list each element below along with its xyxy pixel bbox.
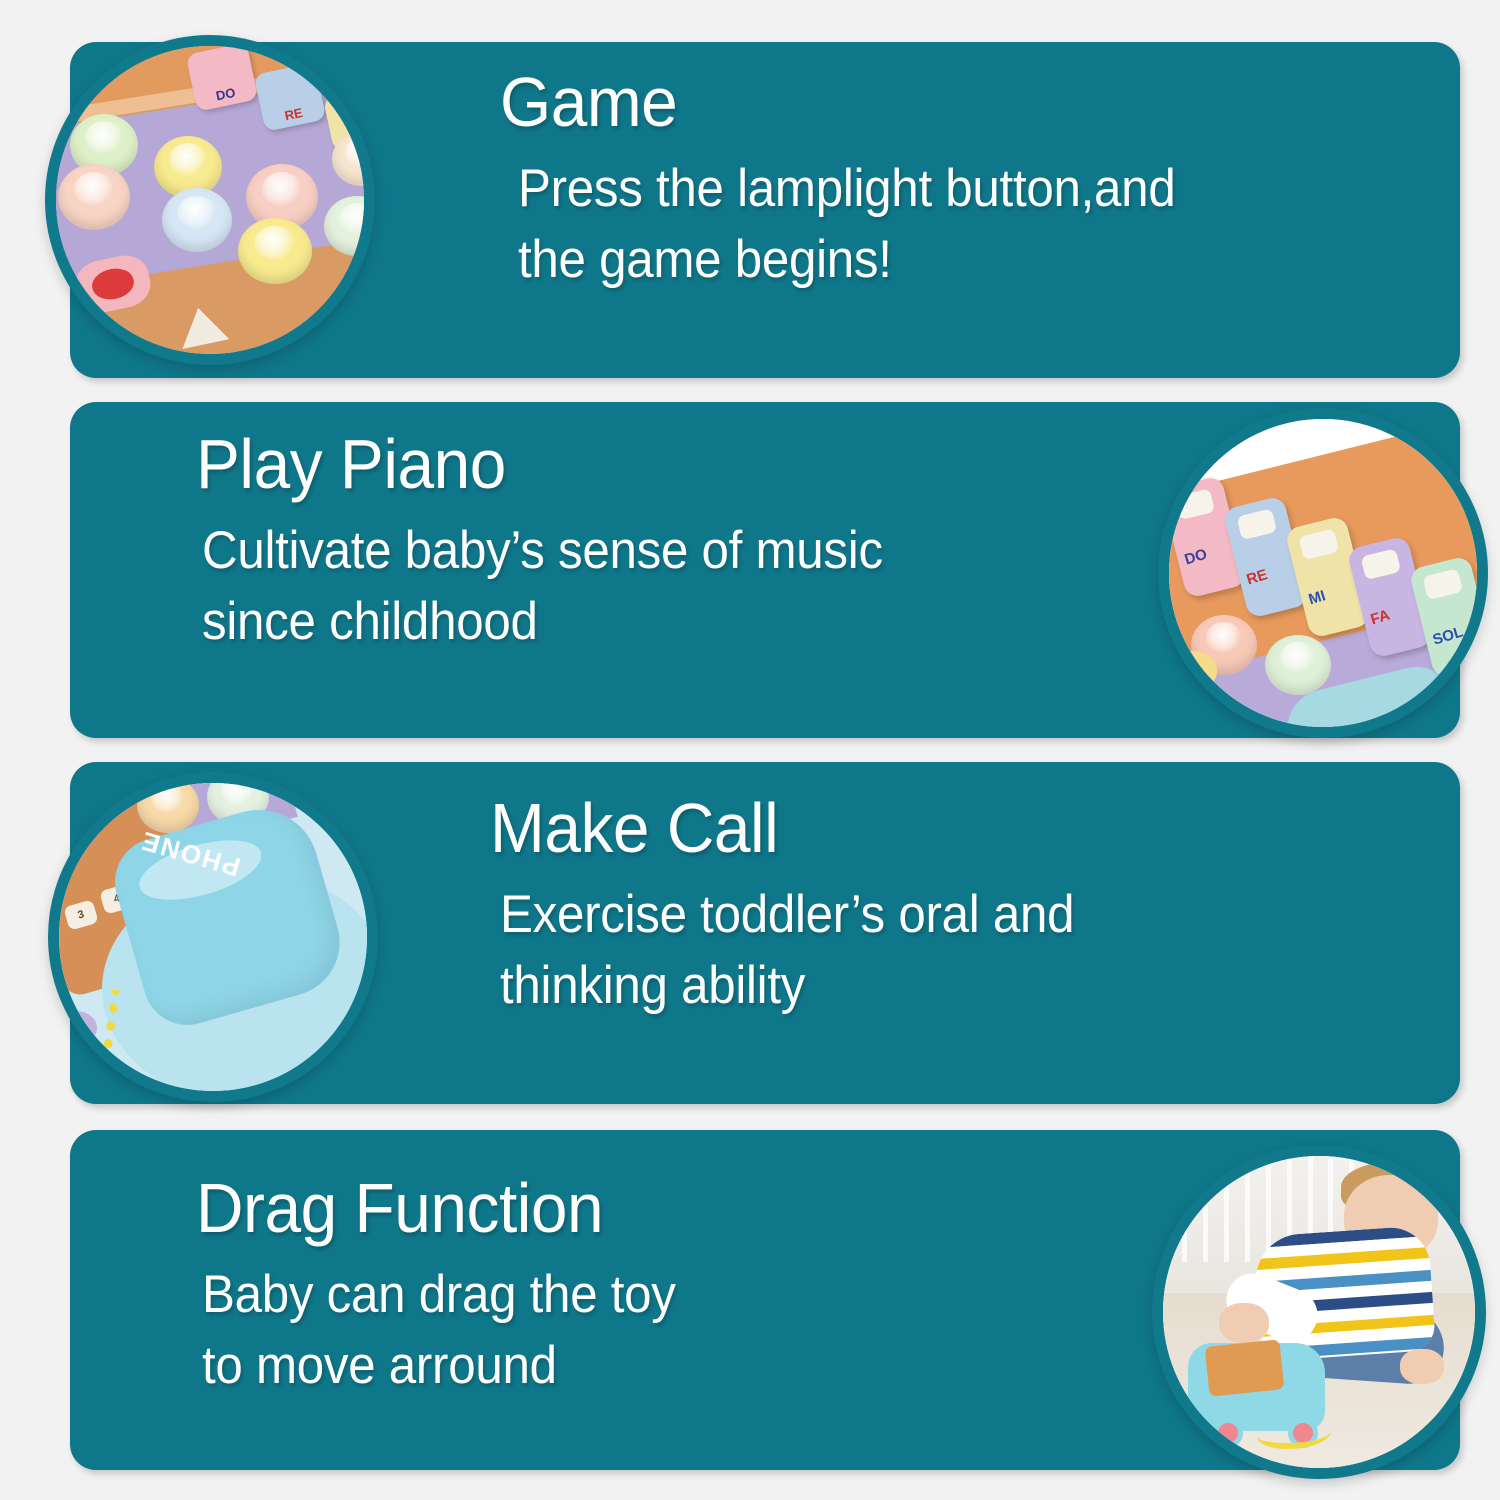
feature-body-line: Baby can drag the toy <box>202 1259 1033 1330</box>
feature-text-game: Game Press the lamplight button,and the … <box>500 66 1420 295</box>
feature-body-drag-function: Baby can drag the toy to move arround <box>202 1259 1033 1401</box>
product-feature-infographic: Game Press the lamplight button,and the … <box>0 0 1500 1500</box>
piano-key-label: FA <box>1369 607 1392 629</box>
feature-text-play-piano: Play Piano Cultivate baby’s sense of mus… <box>196 428 1116 657</box>
yellow-accent <box>1169 651 1217 691</box>
toddler-hand <box>1400 1349 1444 1383</box>
feature-image-game: DO RE <box>45 35 375 365</box>
feature-text-drag-function: Drag Function Baby can drag the toy to m… <box>196 1172 1096 1401</box>
feature-image-play-piano: DO RE MI FA SOL <box>1158 408 1488 738</box>
light-dome <box>162 188 232 252</box>
feature-body-line: thinking ability <box>500 950 1309 1021</box>
feature-body-play-piano: Cultivate baby’s sense of music since ch… <box>202 515 1052 657</box>
feature-heading-game: Game <box>500 66 1365 139</box>
feature-body-line: Exercise toddler’s oral and <box>500 879 1309 950</box>
light-dome <box>238 218 312 284</box>
feature-body-line: to move arround <box>202 1330 1033 1401</box>
light-dome <box>58 164 130 230</box>
feature-body-line: the game begins! <box>518 224 1357 295</box>
toddler-dragging-toy-photo <box>1163 1156 1475 1468</box>
feature-heading-drag-function: Drag Function <box>196 1172 1042 1245</box>
feature-image-drag-function <box>1152 1145 1486 1479</box>
animal-face-icon <box>1422 568 1463 600</box>
feature-body-make-call: Exercise toddler’s oral and thinking abi… <box>500 879 1309 1021</box>
animal-face-icon <box>1360 548 1401 580</box>
feature-body-line: since childhood <box>202 586 1052 657</box>
light-dome <box>1265 635 1331 695</box>
piano-key-label: RE <box>1245 566 1270 588</box>
feature-body-line: Press the lamplight button,and <box>518 153 1357 224</box>
piano-key-label: DO <box>1183 546 1209 569</box>
purple-round-button <box>55 1011 97 1045</box>
numpad-key: 3 <box>63 900 98 931</box>
feature-heading-play-piano: Play Piano <box>196 428 1061 501</box>
phone-handset-photo: 3 4 PHONE <box>59 783 367 1091</box>
feature-text-make-call: Make Call Exercise toddler’s oral and th… <box>490 792 1370 1021</box>
feature-heading-make-call: Make Call <box>490 792 1317 865</box>
toy-wheel <box>1213 1418 1243 1448</box>
animal-face-icon <box>1236 508 1277 540</box>
animal-face-icon <box>1174 488 1215 520</box>
piano-keys-photo: DO RE MI FA SOL <box>1169 419 1477 727</box>
feature-body-line: Cultivate baby’s sense of music <box>202 515 1052 586</box>
lamplight-game-buttons-photo: DO RE <box>56 46 364 354</box>
toddler-hand <box>1219 1303 1269 1344</box>
feature-image-make-call: 3 4 PHONE <box>48 772 378 1102</box>
toy-keypad <box>1204 1339 1284 1396</box>
piano-key-label: SOL <box>1431 623 1465 648</box>
feature-body-game: Press the lamplight button,and the game … <box>518 153 1357 295</box>
animal-face-icon <box>1298 528 1339 560</box>
piano-key-label: MI <box>1307 587 1328 608</box>
